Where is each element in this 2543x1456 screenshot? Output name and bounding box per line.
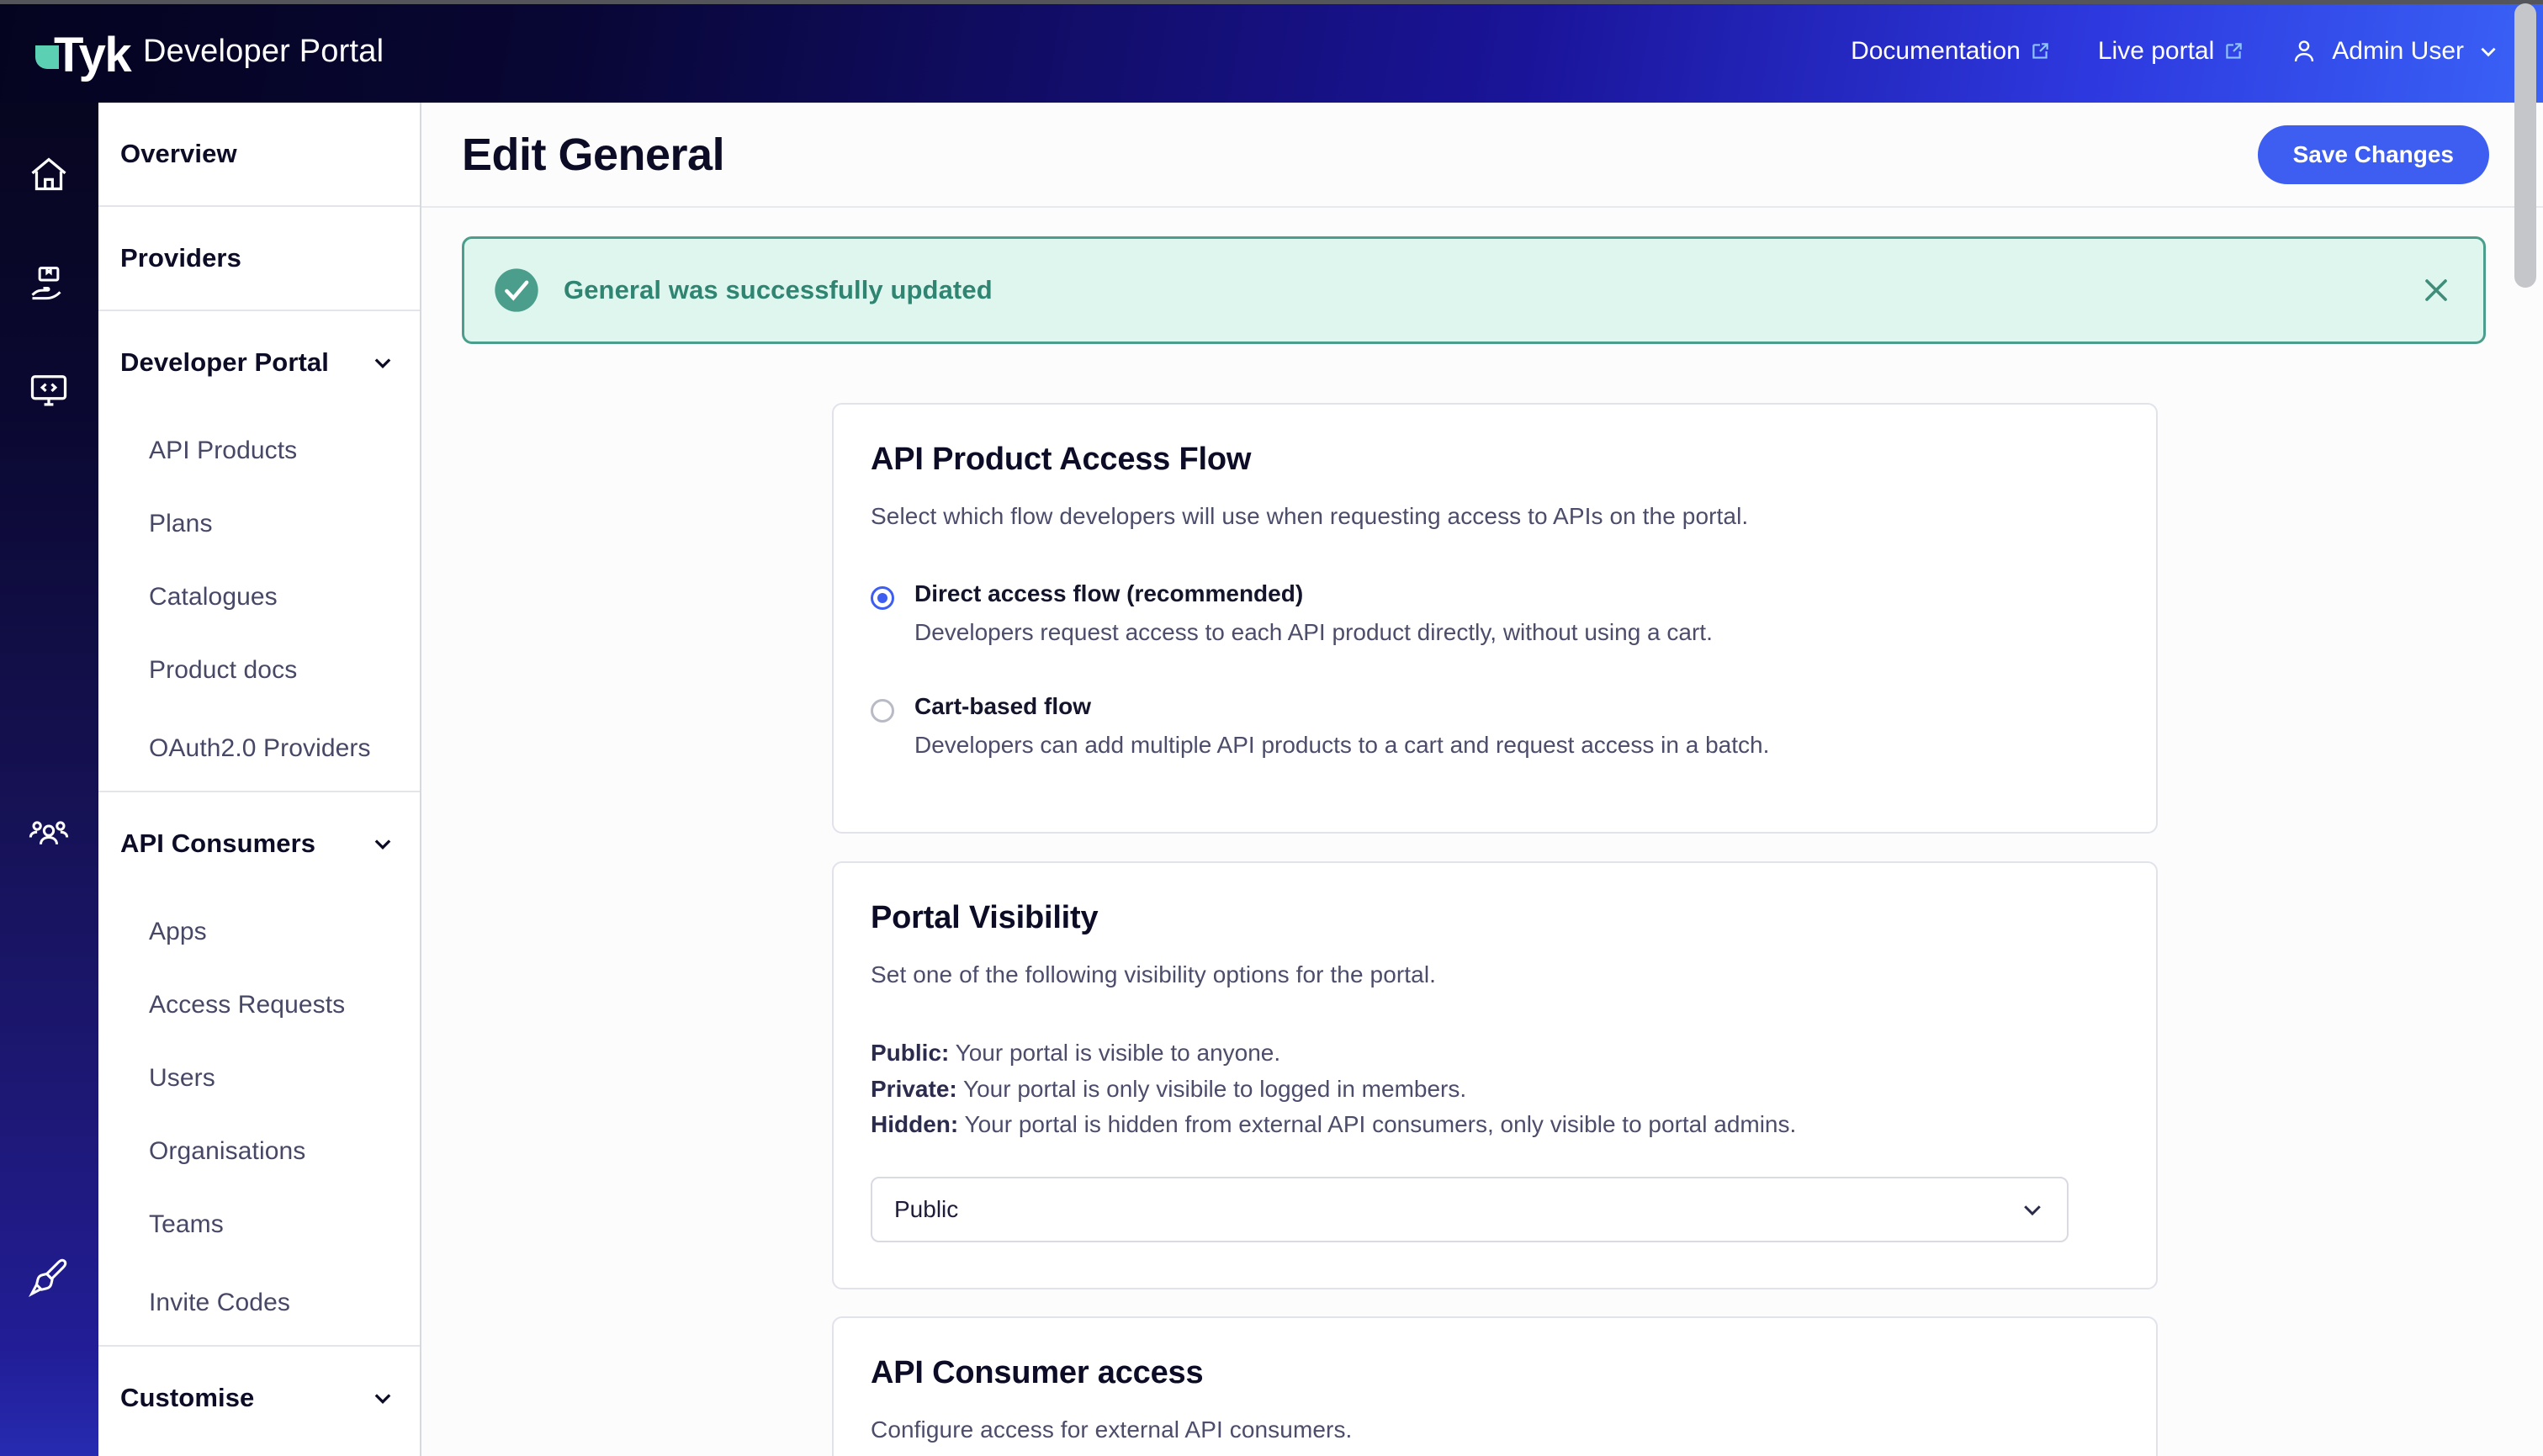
paintbrush-icon [27,1255,71,1299]
main-content: Edit General Save Changes General was su… [421,103,2543,1456]
person-icon [2290,37,2318,66]
sidebar-item-plans[interactable]: Plans [98,487,420,560]
live-portal-link[interactable]: Live portal [2074,37,2268,66]
chevron-down-icon[interactable] [371,832,395,855]
visibility-legend-private: Private: Your portal is only visibile to… [871,1072,2119,1108]
sidebar-subitem-label: Teams [149,1210,224,1239]
brand-logo-group[interactable]: Tyk Developer Portal [35,25,384,77]
sidebar-item-label: Providers [120,243,241,273]
sidebar-item-organisations[interactable]: Organisations [98,1115,420,1188]
visibility-legend: Public: Your portal is visible to anyone… [871,1035,2119,1143]
radio-option-label: Cart-based flow [914,693,1769,720]
sidebar-item-api-consumers[interactable]: API Consumers [98,792,420,895]
save-changes-button[interactable]: Save Changes [2258,125,2489,184]
user-menu[interactable]: Admin User [2268,37,2504,66]
sidebar-subitem-label: OAuth2.0 Providers [149,734,371,763]
sidebar-subitem-label: Apps [149,918,207,946]
legend-term: Hidden: [871,1111,958,1137]
rail-item-api-consumers[interactable] [27,813,71,856]
card-description: Configure access for external API consum… [871,1416,2119,1443]
radio-option-help: Developers can add multiple API products… [914,732,1769,759]
external-link-icon [2029,40,2051,62]
hand-package-icon [27,261,71,304]
sidebar-subitem-label: Plans [149,510,213,538]
home-icon [27,153,71,197]
users-group-icon [27,813,71,856]
nav-group-overview: Overview [98,103,420,207]
legend-text: Your portal is hidden from external API … [958,1111,1796,1137]
radio-option-direct-access-flow[interactable]: Direct access flow (recommended) Develop… [871,580,2119,646]
sidebar-subitem-label: API Products [149,437,297,465]
sidebar-item-product-docs[interactable]: Product docs [98,633,420,707]
close-icon [2418,272,2455,309]
radio-button-direct-access-flow[interactable] [871,586,894,610]
chevron-down-icon[interactable] [371,1386,395,1410]
icon-rail [0,103,98,1456]
legend-term: Private: [871,1076,957,1102]
sidebar-item-access-requests[interactable]: Access Requests [98,968,420,1041]
card-description: Set one of the following visibility opti… [871,961,2119,988]
scrollbar-thumb[interactable] [2514,3,2536,288]
sidebar-item-catalogues[interactable]: Catalogues [98,560,420,633]
documentation-link[interactable]: Documentation [1827,37,2074,66]
api-consumer-access-card: API Consumer access Configure access for… [832,1316,2158,1456]
nav-group-api-consumers: API Consumers Apps Access Requests Users… [98,792,420,1347]
close-alert-button[interactable] [2418,272,2455,309]
sidebar-item-teams[interactable]: Teams [98,1188,420,1261]
content-header: Edit General Save Changes [421,103,2543,208]
legend-text: Your portal is only visibile to logged i… [957,1076,1466,1102]
top-bar-actions: Documentation Live portal Admin User [1827,37,2504,66]
code-monitor-icon [27,368,71,412]
sidebar-item-providers[interactable]: Providers [98,207,420,310]
nav-group-developer-portal: Developer Portal API Products Plans Cata… [98,311,420,792]
sidebar-subitem-label: Access Requests [149,991,345,1019]
documentation-label: Documentation [1851,37,2021,66]
visibility-legend-public: Public: Your portal is visible to anyone… [871,1035,2119,1072]
app-root: Tyk Developer Portal Documentation Live … [0,0,2543,1456]
sidebar-item-overview[interactable]: Overview [98,103,420,205]
top-navigation-bar: Tyk Developer Portal Documentation Live … [0,0,2543,103]
radio-button-cart-based-flow[interactable] [871,699,894,723]
sidebar-item-users[interactable]: Users [98,1041,420,1115]
legend-term: Public: [871,1040,949,1066]
card-description: Select which flow developers will use wh… [871,503,2119,530]
rail-item-providers[interactable] [27,261,71,304]
radio-option-label: Direct access flow (recommended) [914,580,1713,607]
radio-option-texts: Direct access flow (recommended) Develop… [914,580,1713,646]
rail-item-home[interactable] [27,153,71,197]
live-portal-label: Live portal [2098,37,2214,66]
visibility-legend-hidden: Hidden: Your portal is hidden from exter… [871,1107,2119,1143]
sidebar-item-themes[interactable]: Themes [98,1449,420,1456]
chevron-down-icon[interactable] [2020,1197,2045,1222]
sidebar-item-label: Overview [120,139,237,169]
portal-visibility-select[interactable]: Public [871,1177,2069,1242]
api-product-access-flow-card: API Product Access Flow Select which flo… [832,403,2158,834]
external-link-icon [2222,40,2244,62]
sidebar-item-oauth2-providers[interactable]: OAuth2.0 Providers [98,707,420,791]
portal-visibility-selected-value: Public [894,1196,958,1223]
check-circle-icon [493,267,540,314]
portal-visibility-card: Portal Visibility Set one of the followi… [832,861,2158,1289]
page-title: Edit General [462,129,724,181]
card-title: Portal Visibility [871,900,2119,936]
sidebar-item-invite-codes[interactable]: Invite Codes [98,1261,420,1345]
window-top-edge [0,0,2543,4]
user-name-label: Admin User [2332,37,2464,66]
sidebar-subitem-label: Catalogues [149,583,278,612]
sidebar-navigation: Overview Providers Developer Portal API … [98,103,421,1456]
success-alert-message: General was successfully updated [564,275,993,305]
nav-group-providers: Providers [98,207,420,311]
chevron-down-icon [2477,40,2499,62]
radio-option-help: Developers request access to each API pr… [914,619,1713,646]
brand-mark-label: Tyk [54,27,130,83]
legend-text: Your portal is visible to anyone. [949,1040,1280,1066]
sidebar-subitem-label: Invite Codes [149,1289,290,1317]
sidebar-item-api-products[interactable]: API Products [98,414,420,487]
sidebar-subitem-label: Organisations [149,1137,305,1166]
card-title: API Consumer access [871,1355,2119,1391]
vertical-scrollbar[interactable] [2514,3,2536,1353]
sidebar-subitem-label: Product docs [149,656,297,685]
nav-group-customise: Customise Themes [98,1347,420,1456]
rail-item-customise[interactable] [27,1255,71,1299]
sidebar-item-developer-portal[interactable]: Developer Portal [98,311,420,414]
sidebar-subitem-label: Users [149,1064,215,1093]
sidebar-item-customise[interactable]: Customise [98,1347,420,1449]
sidebar-item-label: Customise [120,1383,254,1413]
sidebar-item-label: Developer Portal [120,347,329,378]
success-alert: General was successfully updated [462,236,2486,344]
radio-option-texts: Cart-based flow Developers can add multi… [914,693,1769,759]
rail-item-developer-portal[interactable] [27,368,71,412]
brand-title-label: Developer Portal [143,34,384,70]
chevron-down-icon[interactable] [371,351,395,374]
sidebar-item-label: API Consumers [120,829,315,859]
access-flow-radio-group: Direct access flow (recommended) Develop… [871,580,2119,759]
tyk-logo: Tyk [35,25,135,77]
content-scroll-area: General was successfully updated API Pro… [421,208,2543,1456]
card-title: API Product Access Flow [871,442,2119,478]
radio-option-cart-based-flow[interactable]: Cart-based flow Developers can add multi… [871,693,2119,759]
sidebar-item-apps[interactable]: Apps [98,895,420,968]
